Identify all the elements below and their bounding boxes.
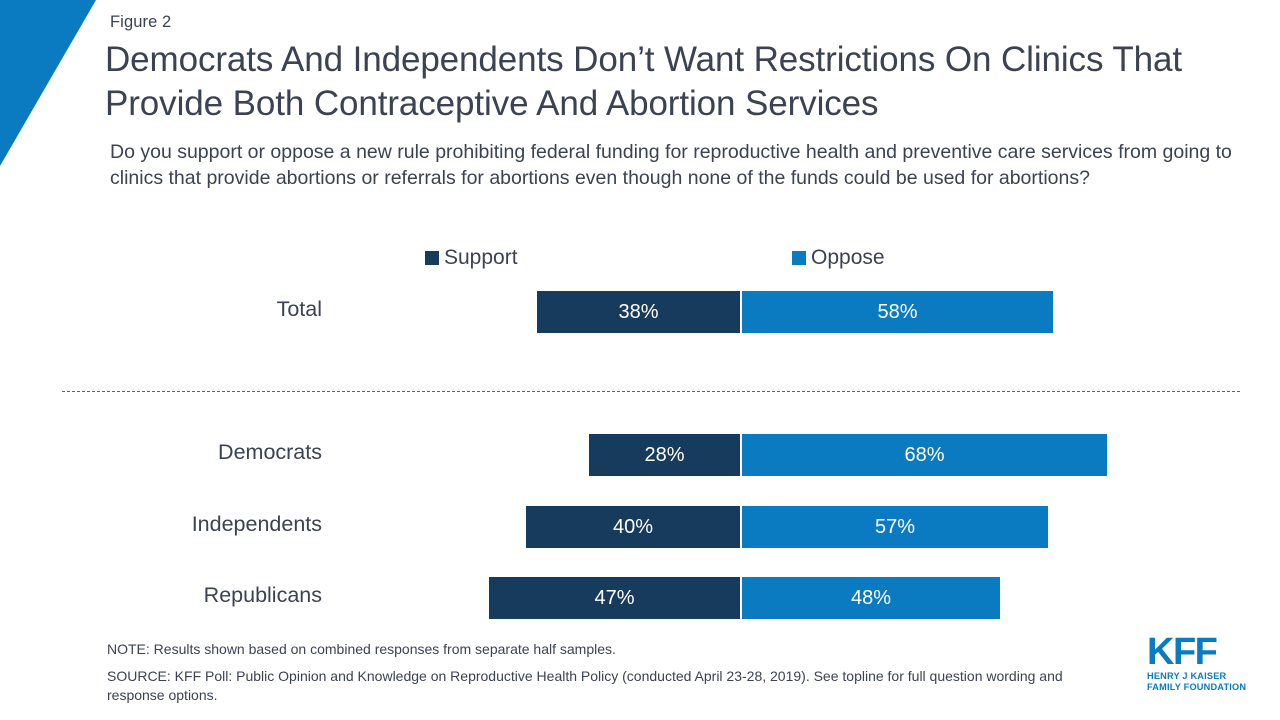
row-label-total: Total — [60, 297, 322, 322]
table-row: Independents 40% 57% — [0, 506, 1280, 548]
bar-value-support-democrats: 28% — [644, 444, 684, 467]
table-row: Total 38% 58% — [0, 291, 1280, 333]
note-text: NOTE: Results shown based on combined re… — [107, 640, 1067, 659]
kff-logo-subtitle-line2: FAMILY FOUNDATION — [1147, 682, 1257, 693]
kff-logo-subtitle-line1: HENRY J KAISER — [1147, 671, 1257, 682]
bar-value-support-total: 38% — [618, 301, 658, 324]
bar-segment-support-independents[interactable]: 40% — [526, 506, 740, 548]
kff-logo: KFF HENRY J KAISER FAMILY FOUNDATION — [1147, 633, 1257, 693]
source-text: SOURCE: KFF Poll: Public Opinion and Kno… — [107, 667, 1067, 705]
table-row: Democrats 28% 68% — [0, 434, 1280, 476]
bar-segment-support-republicans[interactable]: 47% — [489, 577, 740, 619]
bar-segment-oppose-total[interactable]: 58% — [742, 291, 1053, 333]
bar-segment-support-total[interactable]: 38% — [537, 291, 740, 333]
bar-value-oppose-republicans: 48% — [851, 587, 891, 610]
bar-segment-oppose-republicans[interactable]: 48% — [742, 577, 1000, 619]
chart-plot-area: Total 38% 58% Democrats 28% 68% Independ… — [0, 0, 1280, 720]
bar-value-support-independents: 40% — [613, 516, 653, 539]
bar-segment-oppose-democrats[interactable]: 68% — [742, 434, 1107, 476]
row-label-independents: Independents — [60, 512, 322, 537]
row-label-republicans: Republicans — [60, 583, 322, 608]
bar-value-oppose-independents: 57% — [875, 516, 915, 539]
bar-segment-support-democrats[interactable]: 28% — [589, 434, 740, 476]
row-label-democrats: Democrats — [60, 440, 322, 465]
bar-value-oppose-democrats: 68% — [904, 444, 944, 467]
bar-value-oppose-total: 58% — [877, 301, 917, 324]
bar-segment-oppose-independents[interactable]: 57% — [742, 506, 1048, 548]
kff-logo-wordmark: KFF — [1147, 633, 1257, 671]
section-divider — [62, 391, 1240, 392]
bar-value-support-republicans: 47% — [594, 587, 634, 610]
chart-footer: NOTE: Results shown based on combined re… — [107, 640, 1067, 705]
table-row: Republicans 47% 48% — [0, 577, 1280, 619]
